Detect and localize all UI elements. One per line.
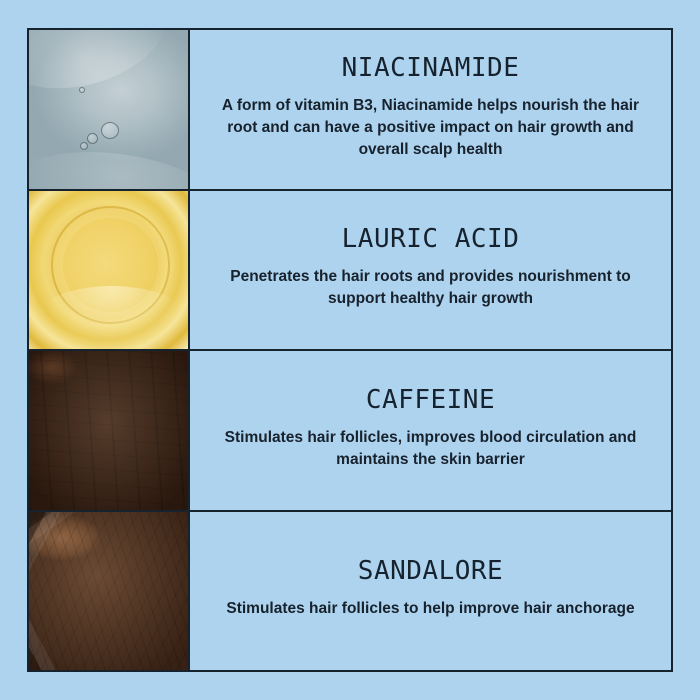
niacinamide-serum-photo xyxy=(29,30,188,189)
ingredient-text-cell: LAURIC ACID Penetrates the hair roots an… xyxy=(190,191,671,350)
ingredient-image-cell xyxy=(29,30,190,189)
table-row: NIACINAMIDE A form of vitamin B3, Niacin… xyxy=(29,30,671,191)
bubble-icon xyxy=(80,142,88,150)
ingredient-name: CAFFEINE xyxy=(366,386,495,415)
table-row: LAURIC ACID Penetrates the hair roots an… xyxy=(29,191,671,352)
ingredient-name: SANDALORE xyxy=(358,557,503,586)
ingredient-text-cell: SANDALORE Stimulates hair follicles to h… xyxy=(190,512,671,671)
table-row: SANDALORE Stimulates hair follicles to h… xyxy=(29,512,671,671)
ingredient-name: NIACINAMIDE xyxy=(342,54,520,83)
sandalore-sandalwood-photo xyxy=(29,512,188,671)
ingredient-name: LAURIC ACID xyxy=(342,225,520,254)
bubble-icon xyxy=(79,87,85,93)
ingredients-table: NIACINAMIDE A form of vitamin B3, Niacin… xyxy=(27,28,673,672)
table-row: CAFFEINE Stimulates hair follicles, impr… xyxy=(29,351,671,512)
ingredient-description: A form of vitamin B3, Niacinamide helps … xyxy=(216,95,646,161)
bubble-icon xyxy=(87,133,98,144)
ingredient-description: Stimulates hair follicles, improves bloo… xyxy=(216,427,646,471)
ingredient-description: Penetrates the hair roots and provides n… xyxy=(216,266,646,310)
ingredient-description: Stimulates hair follicles to help improv… xyxy=(226,598,634,620)
ingredient-text-cell: NIACINAMIDE A form of vitamin B3, Niacin… xyxy=(190,30,671,189)
caffeine-coffee-beans-photo xyxy=(29,351,188,510)
ingredient-image-cell xyxy=(29,351,190,510)
ingredient-text-cell: CAFFEINE Stimulates hair follicles, impr… xyxy=(190,351,671,510)
ingredient-image-cell xyxy=(29,191,190,350)
lauric-acid-oil-photo xyxy=(29,191,188,350)
ingredient-image-cell xyxy=(29,512,190,671)
bubble-icon xyxy=(101,122,119,139)
